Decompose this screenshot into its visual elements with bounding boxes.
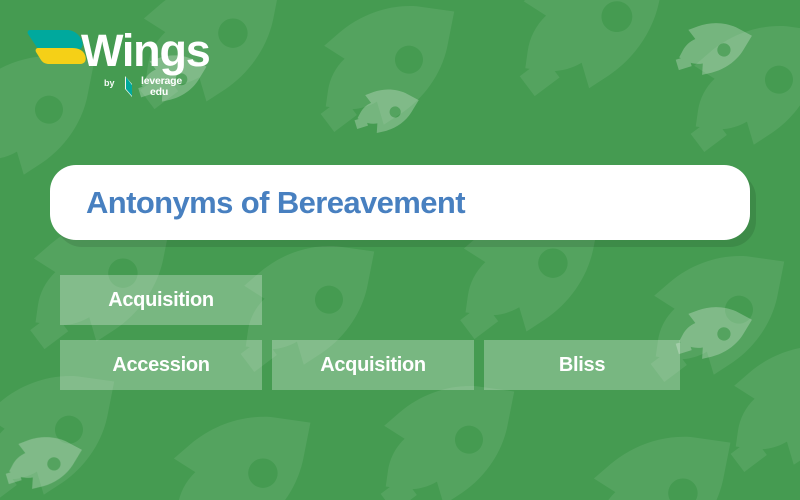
antonym-chip[interactable]: Acquisition <box>272 340 474 390</box>
parent-brand-logo: leverage edu <box>122 75 194 101</box>
page-title: Antonyms of Bereavement <box>86 185 465 221</box>
brand-logo[interactable]: Wings by leverage edu <box>26 24 186 102</box>
antonym-chip-label: Acquisition <box>320 354 426 377</box>
chip-row-1: Acquisition <box>60 275 760 325</box>
chip-row-2: AccessionAcquisitionBliss <box>60 340 760 390</box>
antonym-chip[interactable]: Bliss <box>484 340 680 390</box>
title-banner: Antonyms of Bereavement <box>50 165 750 240</box>
parent-brand-text: leverage edu <box>141 76 182 98</box>
poster-canvas: { "brand": { "name": "Wings", "by_label"… <box>0 0 800 500</box>
wings-mark-icon <box>26 24 88 74</box>
brand-wordmark: Wings <box>81 28 210 73</box>
antonym-chip-label: Acquisition <box>108 289 214 312</box>
antonym-chip-label: Bliss <box>559 354 605 377</box>
antonym-chip[interactable]: Acquisition <box>60 275 262 325</box>
brand-by-label: by <box>104 78 115 88</box>
antonyms-chip-area: Acquisition AccessionAcquisitionBliss <box>60 275 760 390</box>
antonym-chip[interactable]: Accession <box>60 340 262 390</box>
antonym-chip-label: Accession <box>112 354 209 377</box>
parent-brand-line2: edu <box>141 87 182 98</box>
